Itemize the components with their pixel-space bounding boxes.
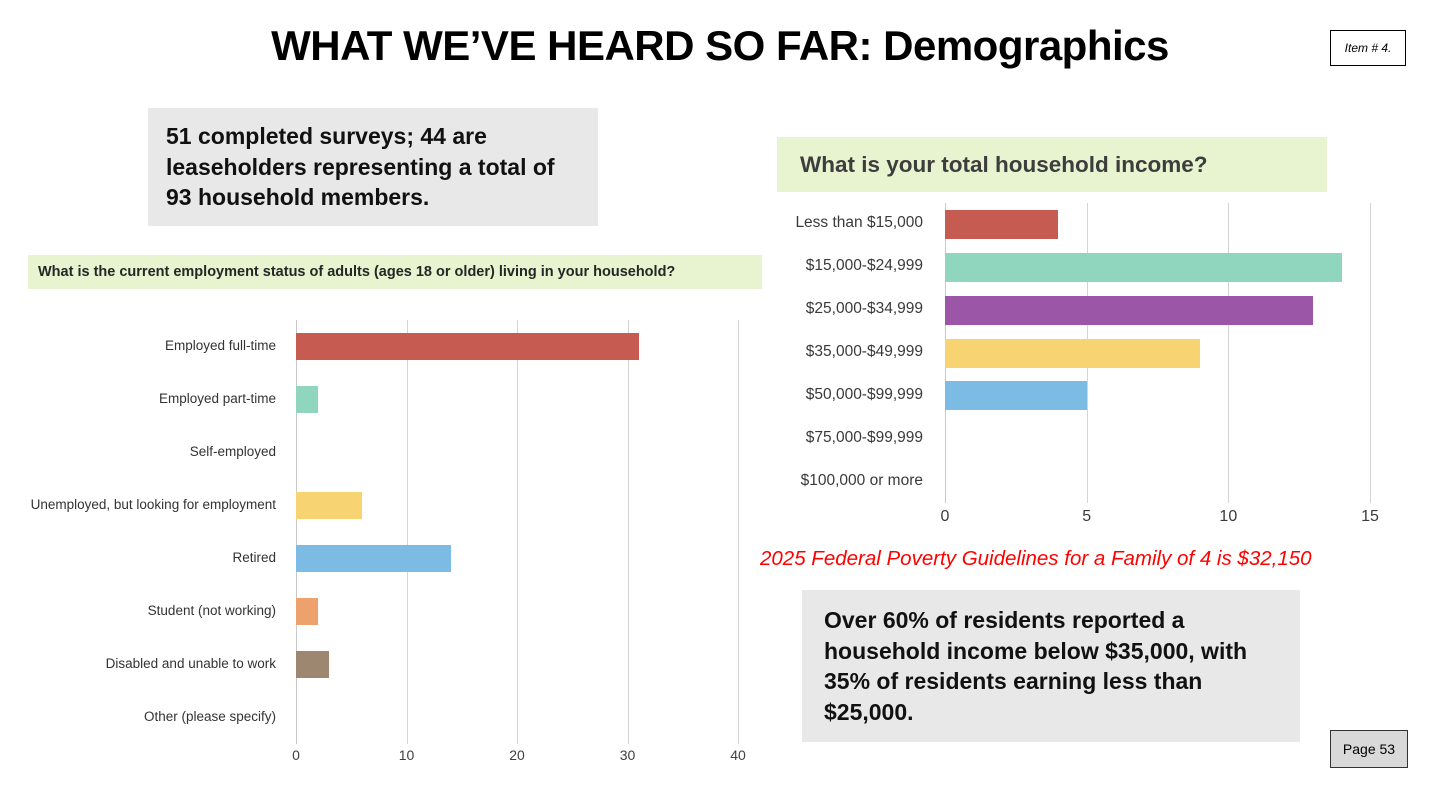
category-label: Employed part-time [0,391,286,406]
income-question-banner: What is your total household income? [777,137,1327,192]
gridline-10 [407,320,408,744]
category-label: $100,000 or more [770,472,935,490]
x-tick-label: 5 [1065,508,1109,526]
bar [945,339,1200,368]
bar-row [296,333,738,360]
gridline-30 [628,320,629,744]
bar [296,333,639,360]
category-label: Student (not working) [0,603,286,618]
x-tick-label: 30 [606,747,650,763]
bar [945,381,1087,410]
bar-row [945,339,1370,368]
category-label: $25,000-$34,999 [770,300,935,318]
employment-question-banner: What is the current employment status of… [28,255,762,289]
bar-row [296,492,738,519]
gridline-15 [1370,203,1371,503]
x-tick-label: 10 [1206,508,1250,526]
bar [296,545,451,572]
bar-row [945,381,1370,410]
bar [945,296,1313,325]
page-title: WHAT WE’VE HEARD SO FAR: Demographics [0,22,1440,70]
category-label: $35,000-$49,999 [770,343,935,361]
household-income-bar-chart: 051015Less than $15,000$15,000-$24,999$2… [770,195,1410,540]
bar-row [296,545,738,572]
employment-plot-area [296,320,738,744]
category-label: $50,000-$99,999 [770,386,935,404]
gridline-40 [738,320,739,744]
income-plot-area [945,203,1370,503]
x-tick-label: 10 [385,747,429,763]
x-tick-label: 0 [274,747,318,763]
category-label: $15,000-$24,999 [770,257,935,275]
bar-row [296,386,738,413]
income-summary-callout: Over 60% of residents reported a househo… [802,590,1300,742]
bar [296,492,362,519]
item-number-badge: Item # 4. [1330,30,1406,66]
bar [296,598,318,625]
category-label: Disabled and unable to work [0,656,286,671]
bar-row [945,296,1370,325]
bar [296,386,318,413]
category-label: Other (please specify) [0,709,286,724]
category-label: $75,000-$99,999 [770,429,935,447]
bar [945,210,1058,239]
bar-row [296,598,738,625]
x-tick-label: 40 [716,747,760,763]
bar [945,253,1342,282]
gridline-0 [296,320,297,744]
category-label: Less than $15,000 [770,214,935,232]
x-tick-label: 20 [495,747,539,763]
category-label: Unemployed, but looking for employment [0,497,286,512]
page-number-badge: Page 53 [1330,730,1408,768]
survey-summary-callout: 51 completed surveys; 44 are leaseholder… [148,108,598,226]
employment-status-bar-chart: 010203040Employed full-timeEmployed part… [0,310,770,770]
bar-row [945,253,1370,282]
bar [296,651,329,678]
federal-poverty-note: 2025 Federal Poverty Guidelines for a Fa… [760,547,1420,571]
gridline-20 [517,320,518,744]
bar-row [296,651,738,678]
x-tick-label: 0 [923,508,967,526]
category-label: Retired [0,550,286,565]
x-tick-label: 15 [1348,508,1392,526]
bar-row [945,210,1370,239]
category-label: Employed full-time [0,338,286,353]
category-label: Self-employed [0,444,286,459]
